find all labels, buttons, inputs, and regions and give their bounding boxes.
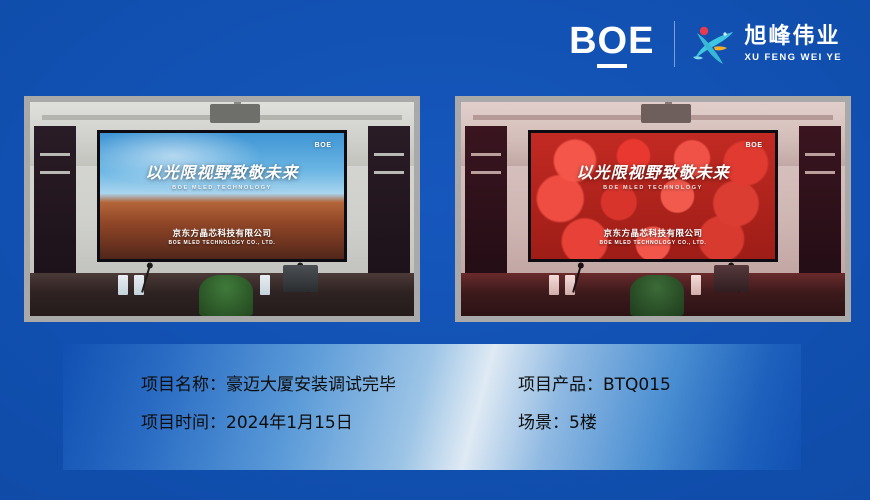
screen-corp-en: BOE MLED TECHNOLOGY CO., LTD. — [168, 240, 275, 246]
project-info-banner: 项目名称：豪迈大厦安装调试完毕 项目时间：2024年1月15日 项目产品：BTQ… — [63, 344, 801, 470]
screen-hero-block: 以光限视野致敬未来 BOE MLED TECHNOLOGY — [576, 159, 729, 191]
screen-hero-en: BOE MLED TECHNOLOGY — [145, 185, 298, 191]
partner-logo-text: 旭峰伟业 XU FENG WEI YE — [744, 25, 842, 64]
partner-logo: 旭峰伟业 XU FENG WEI YE — [691, 23, 842, 65]
screen-corp-en: BOE MLED TECHNOLOGY CO., LTD. — [599, 240, 706, 246]
wall-panel-line — [374, 171, 404, 174]
wall-panel-right — [799, 126, 841, 278]
table-plant — [199, 275, 253, 316]
water-bottle — [549, 275, 559, 294]
water-bottle — [260, 275, 270, 294]
screen-corp-cn: 京东方晶芯科技有限公司 — [599, 227, 706, 239]
photo-right-image: BOE 以光限视野致敬未来 BOE MLED TECHNOLOGY 京东方晶芯科… — [461, 102, 845, 316]
info-column-right: 项目产品：BTQ015 场景：5楼 — [518, 366, 671, 442]
photo-left: BOE 以光限视野致敬未来 BOE MLED TECHNOLOGY 京东方晶芯科… — [24, 96, 420, 322]
project-product-line: 项目产品：BTQ015 — [518, 366, 671, 404]
wall-panel-left — [465, 126, 507, 278]
wall-panel-line — [40, 171, 70, 174]
wall-panel-line — [40, 153, 70, 156]
info-column-left: 项目名称：豪迈大厦安装调试完毕 项目时间：2024年1月15日 — [141, 366, 396, 442]
led-display-left: BOE 以光限视野致敬未来 BOE MLED TECHNOLOGY 京东方晶芯科… — [97, 130, 347, 263]
partner-name-cn: 旭峰伟业 — [744, 25, 842, 49]
project-scene-line: 场景：5楼 — [518, 404, 671, 442]
water-bottle — [118, 275, 128, 294]
room-scene-left: BOE 以光限视野致敬未来 BOE MLED TECHNOLOGY 京东方晶芯科… — [30, 102, 414, 316]
wall-panel-line — [471, 171, 501, 174]
led-display-right: BOE 以光限视野致敬未来 BOE MLED TECHNOLOGY 京东方晶芯科… — [528, 130, 778, 263]
desk-monitor — [283, 265, 318, 293]
screen-hero-cn: 以光限视野致敬未来 — [145, 159, 298, 183]
photo-right: BOE 以光限视野致敬未来 BOE MLED TECHNOLOGY 京东方晶芯科… — [455, 96, 851, 322]
projector — [210, 104, 260, 123]
project-date-line: 项目时间：2024年1月15日 — [141, 404, 396, 442]
screen-corp-block: 京东方晶芯科技有限公司 BOE MLED TECHNOLOGY CO., LTD… — [599, 227, 706, 246]
room-scene-right: BOE 以光限视野致敬未来 BOE MLED TECHNOLOGY 京东方晶芯科… — [461, 102, 845, 316]
table-plant — [630, 275, 684, 316]
screen-hero-cn: 以光限视野致敬未来 — [576, 159, 729, 183]
wall-panel-line — [805, 171, 835, 174]
screen-corp-cn: 京东方晶芯科技有限公司 — [168, 227, 275, 239]
wall-panel-right — [368, 126, 410, 278]
wall-panel-line — [471, 153, 501, 156]
projector — [641, 104, 691, 123]
photo-left-image: BOE 以光限视野致敬未来 BOE MLED TECHNOLOGY 京东方晶芯科… — [30, 102, 414, 316]
boe-logo-underline — [597, 64, 627, 68]
project-name-line: 项目名称：豪迈大厦安装调试完毕 — [141, 366, 396, 404]
wall-panel-line — [374, 153, 404, 156]
screen-hero-block: 以光限视野致敬未来 BOE MLED TECHNOLOGY — [145, 159, 298, 191]
partner-name-en: XU FENG WEI YE — [744, 51, 842, 64]
logo-bar: BOE 旭峰伟业 XU FENG WEI YE — [569, 18, 842, 70]
boe-logo-text: BOE — [569, 21, 654, 61]
wall-panel-left — [34, 126, 76, 278]
boe-logo: BOE — [569, 21, 654, 68]
logo-divider — [674, 21, 675, 67]
screen-corner-logo: BOE — [746, 142, 763, 149]
wall-panel-line — [805, 153, 835, 156]
desk-monitor — [714, 265, 749, 293]
poster-canvas: BOE 旭峰伟业 XU FENG WEI YE — [0, 0, 870, 500]
screen-corp-block: 京东方晶芯科技有限公司 BOE MLED TECHNOLOGY CO., LTD… — [168, 227, 275, 246]
water-bottle — [691, 275, 701, 294]
screen-corner-logo: BOE — [315, 142, 332, 149]
screen-hero-en: BOE MLED TECHNOLOGY — [576, 185, 729, 191]
xufeng-bird-icon — [691, 23, 735, 65]
